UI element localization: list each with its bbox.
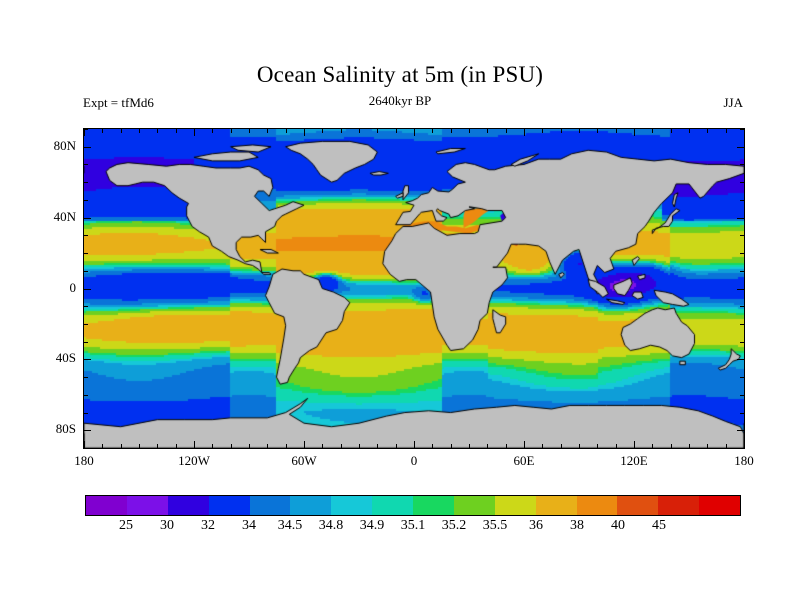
tick-mark [377, 129, 378, 133]
tick-mark [341, 444, 342, 448]
tick-mark [341, 129, 342, 133]
colorbar-segment-11 [536, 496, 577, 515]
tick-mark [740, 377, 744, 378]
tick-mark [726, 444, 727, 448]
tick-mark [671, 129, 672, 133]
colorbar-segment-0 [86, 496, 127, 515]
colorbar [85, 495, 741, 516]
tick-mark [286, 129, 287, 133]
tick-mark [451, 444, 452, 448]
tick-mark [84, 441, 85, 448]
tick-mark [157, 129, 158, 133]
tick-mark [597, 444, 598, 448]
x-tick-label: 60W [274, 453, 334, 469]
tick-mark [542, 129, 543, 133]
tick-mark [84, 253, 88, 254]
colorbar-segment-13 [617, 496, 658, 515]
tick-mark [157, 444, 158, 448]
tick-mark [740, 182, 744, 183]
tick-mark [304, 441, 305, 448]
tick-mark [726, 129, 727, 133]
colorbar-segment-6 [331, 496, 372, 515]
chart-title: Ocean Salinity at 5m (in PSU) [0, 62, 800, 88]
tick-mark [737, 147, 744, 148]
colorbar-segment-4 [250, 496, 291, 515]
tick-mark [414, 441, 415, 448]
tick-mark [689, 444, 690, 448]
tick-mark [740, 342, 744, 343]
tick-mark [396, 444, 397, 448]
colorbar-segment-15 [699, 496, 740, 515]
tick-mark [84, 306, 88, 307]
tick-mark [359, 129, 360, 133]
colorbar-segment-8 [413, 496, 454, 515]
tick-mark [84, 200, 88, 201]
x-tick-label: 120W [164, 453, 224, 469]
x-tick-label: 0 [384, 453, 444, 469]
tick-mark [194, 441, 195, 448]
tick-mark [84, 359, 91, 360]
colorbar-segment-12 [577, 496, 618, 515]
y-tick-label: 80S [28, 421, 76, 437]
tick-mark [84, 182, 88, 183]
x-tick-label: 180 [54, 453, 114, 469]
tick-mark [322, 444, 323, 448]
tick-mark [707, 444, 708, 448]
colorbar-segment-5 [290, 496, 331, 515]
tick-mark [469, 129, 470, 133]
tick-mark [176, 129, 177, 133]
tick-mark [740, 235, 744, 236]
tick-mark [359, 444, 360, 448]
tick-mark [322, 129, 323, 133]
tick-mark [740, 253, 744, 254]
tick-mark [121, 444, 122, 448]
colorbar-segment-14 [658, 496, 699, 515]
tick-mark [84, 448, 88, 449]
tick-mark [84, 430, 91, 431]
tick-mark [249, 444, 250, 448]
tick-mark [561, 444, 562, 448]
tick-mark [634, 129, 635, 136]
tick-mark [740, 395, 744, 396]
colorbar-segment-2 [168, 496, 209, 515]
tick-mark [469, 444, 470, 448]
tick-mark [542, 444, 543, 448]
tick-mark [414, 129, 415, 136]
tick-mark [579, 129, 580, 133]
y-tick-label: 0 [28, 280, 76, 296]
colorbar-segment-10 [495, 496, 536, 515]
tick-mark [740, 413, 744, 414]
tick-mark [176, 444, 177, 448]
tick-mark [84, 324, 88, 325]
tick-mark [740, 129, 744, 130]
tick-mark [102, 129, 103, 133]
tick-mark [506, 444, 507, 448]
tick-mark [634, 441, 635, 448]
tick-mark [231, 129, 232, 133]
tick-mark [212, 129, 213, 133]
tick-mark [671, 444, 672, 448]
tick-mark [84, 395, 88, 396]
tick-mark [740, 306, 744, 307]
tick-mark [102, 444, 103, 448]
tick-mark [304, 129, 305, 136]
tick-mark [487, 444, 488, 448]
colorbar-segment-7 [372, 496, 413, 515]
salinity-figure: Ocean Salinity at 5m (in PSU) 2640kyr BP… [0, 0, 800, 600]
tick-mark [121, 129, 122, 133]
season-label: JJA [0, 95, 743, 111]
x-tick-label: 60E [494, 453, 554, 469]
tick-mark [616, 444, 617, 448]
y-tick-label: 40S [28, 350, 76, 366]
tick-mark [212, 444, 213, 448]
colorbar-segment-3 [209, 496, 250, 515]
tick-mark [707, 129, 708, 133]
plot-frame [83, 128, 745, 449]
tick-mark [286, 444, 287, 448]
y-tick-label: 80N [28, 138, 76, 154]
colorbar-segment-9 [454, 496, 495, 515]
tick-mark [737, 289, 744, 290]
tick-mark [506, 129, 507, 133]
tick-mark [597, 129, 598, 133]
colorbar-tick-label: 45 [635, 518, 683, 534]
tick-mark [139, 444, 140, 448]
tick-mark [652, 129, 653, 133]
tick-mark [84, 164, 88, 165]
tick-mark [740, 324, 744, 325]
tick-mark [84, 342, 88, 343]
tick-mark [84, 413, 88, 414]
tick-mark [451, 129, 452, 133]
tick-mark [740, 200, 744, 201]
tick-mark [432, 444, 433, 448]
x-tick-label: 120E [604, 453, 664, 469]
tick-mark [84, 377, 88, 378]
tick-mark [737, 218, 744, 219]
tick-mark [737, 430, 744, 431]
tick-mark [84, 235, 88, 236]
tick-mark [487, 129, 488, 133]
colorbar-segment-1 [127, 496, 168, 515]
tick-mark [249, 129, 250, 133]
tick-mark [740, 164, 744, 165]
y-tick-label: 40N [28, 209, 76, 225]
tick-mark [561, 129, 562, 133]
tick-mark [194, 129, 195, 136]
tick-mark [744, 129, 745, 136]
tick-mark [84, 129, 85, 136]
tick-mark [231, 444, 232, 448]
tick-mark [267, 444, 268, 448]
tick-mark [524, 441, 525, 448]
tick-mark [616, 129, 617, 133]
tick-mark [84, 147, 91, 148]
tick-mark [432, 129, 433, 133]
tick-mark [84, 218, 91, 219]
tick-mark [139, 129, 140, 133]
tick-mark [740, 448, 744, 449]
tick-mark [396, 129, 397, 133]
tick-mark [579, 444, 580, 448]
tick-mark [377, 444, 378, 448]
x-tick-label: 180 [714, 453, 774, 469]
tick-mark [652, 444, 653, 448]
tick-mark [524, 129, 525, 136]
tick-mark [84, 129, 88, 130]
tick-mark [737, 359, 744, 360]
tick-mark [740, 271, 744, 272]
tick-mark [744, 441, 745, 448]
tick-mark [689, 129, 690, 133]
tick-mark [267, 129, 268, 133]
tick-mark [84, 271, 88, 272]
tick-mark [84, 289, 91, 290]
